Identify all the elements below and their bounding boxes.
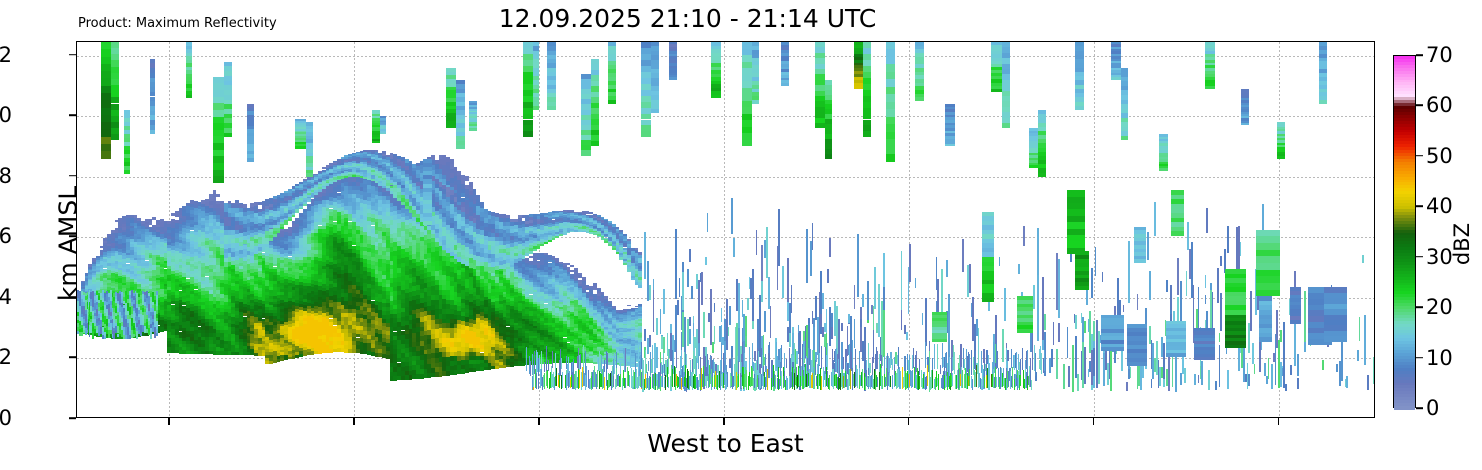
product-label: Product: Maximum Reflectivity bbox=[78, 16, 277, 31]
plot-area bbox=[76, 41, 1375, 418]
heatmap-cell bbox=[149, 219, 153, 222]
heatmap-cell bbox=[465, 176, 469, 180]
heatmap-cell bbox=[450, 159, 454, 164]
heatmap-cell bbox=[469, 182, 473, 186]
heatmap-cell bbox=[473, 189, 477, 193]
heatmap-cell bbox=[480, 202, 484, 206]
reflectivity-heatmap bbox=[77, 42, 1374, 417]
heatmap-cell bbox=[216, 194, 220, 198]
radar-cross-section-figure: 12.09.2025 21:10 - 21:14 UTC Product: Ma… bbox=[0, 0, 1482, 470]
heatmap-cell bbox=[476, 195, 480, 199]
